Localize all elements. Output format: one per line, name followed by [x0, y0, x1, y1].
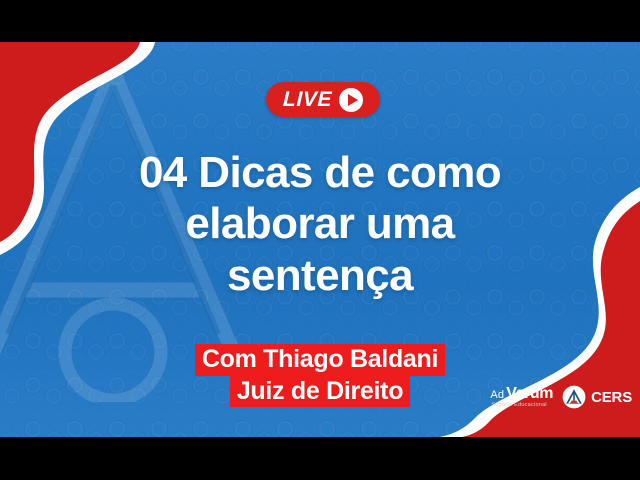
cers-arch-icon — [562, 385, 586, 409]
subtitle-line-role: Juiz de Direito — [230, 376, 410, 408]
adverum-name: Verum — [506, 386, 553, 402]
subtitle-row-1: Com Thiago Baldani — [0, 344, 640, 376]
adverum-logo: Ad Verum Suporte Educacional — [490, 386, 553, 409]
cers-logo: CERS — [562, 385, 632, 409]
cers-wordmark: CERS — [591, 389, 632, 406]
letterbox-bottom — [0, 437, 640, 480]
title-line-2: elaborar uma — [60, 198, 580, 249]
live-badge[interactable]: LIVE — [266, 82, 380, 117]
adverum-tagline: Suporte Educacional — [491, 403, 547, 409]
title-line-3: sentença — [60, 250, 580, 301]
letterbox-top — [0, 0, 640, 42]
logo-lockup: Ad Verum Suporte Educacional CERS — [490, 385, 632, 409]
live-badge-label: LIVE — [283, 89, 333, 110]
video-title: 04 Dicas de como elaborar uma sentença — [60, 147, 580, 301]
adverum-wordmark: Ad Verum — [490, 386, 553, 402]
video-frame: LIVE 04 Dicas de como elaborar uma sente… — [0, 0, 640, 480]
play-icon — [339, 88, 363, 112]
video-stage: LIVE 04 Dicas de como elaborar uma sente… — [0, 42, 640, 437]
title-line-1: 04 Dicas de como — [60, 147, 580, 198]
subtitle-line-presenter: Com Thiago Baldani — [195, 344, 445, 376]
adverum-prefix: Ad — [490, 390, 504, 401]
